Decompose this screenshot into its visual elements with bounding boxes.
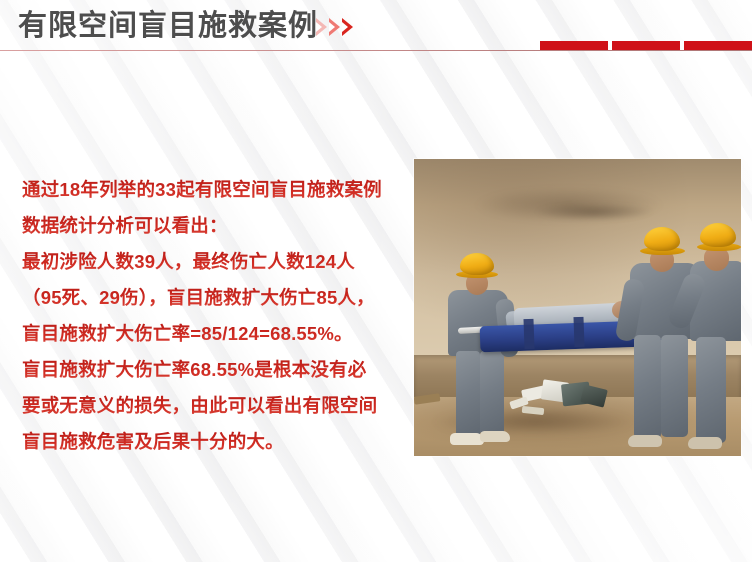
photo-worker-middle-shoe bbox=[628, 435, 662, 447]
photo-worker-middle-helmet bbox=[644, 227, 680, 251]
chevron-right-icon-2 bbox=[329, 18, 340, 36]
photo-worker-middle-leg bbox=[661, 335, 688, 437]
header-divider-line bbox=[0, 50, 752, 51]
photo-worker-middle-leg bbox=[634, 335, 661, 439]
body-text-line: 盲目施救扩大伤亡率68.55%是根本没有必 bbox=[22, 352, 412, 388]
chevron-right-icon-3 bbox=[342, 18, 353, 36]
photo-worker-right-leg bbox=[696, 337, 726, 443]
body-text-line: 通过18年列举的33起有限空间盲目施救案例 bbox=[22, 172, 412, 208]
double-chevron-right-icon bbox=[316, 18, 353, 36]
body-text-line: 最初涉险人数39人，最终伤亡人数124人 bbox=[22, 244, 412, 280]
photo-stretcher-strap bbox=[523, 319, 534, 349]
photo-worker-left-leg bbox=[480, 351, 504, 437]
body-text-line: 数据统计分析可以看出： bbox=[22, 208, 412, 244]
photo-worker-left-shoe bbox=[450, 433, 484, 445]
body-text-block: 通过18年列举的33起有限空间盲目施救案例 数据统计分析可以看出： 最初涉险人数… bbox=[22, 172, 412, 460]
body-text-line: 要或无意义的损失，由此可以看出有限空间 bbox=[22, 388, 412, 424]
photo-wall-stain bbox=[534, 203, 654, 221]
body-text-line: 盲目施救危害及后果十分的大。 bbox=[22, 424, 412, 460]
rescue-photo bbox=[414, 159, 741, 456]
photo-worker-right-helmet bbox=[700, 223, 736, 247]
photo-worker-left-shoe bbox=[480, 431, 510, 442]
page-title: 有限空间盲目施救案例 bbox=[18, 9, 318, 43]
photo-worker-left-leg bbox=[456, 351, 480, 439]
photo-stretcher-strap bbox=[573, 317, 584, 347]
slide-root: 有限空间盲目施救案例 通过18年列举的33起有限空间盲目施救案例 数据统计分析可… bbox=[0, 0, 752, 562]
body-text-line: （95死、29伤），盲目施救扩大伤亡85人， bbox=[22, 280, 412, 316]
slide-header: 有限空间盲目施救案例 bbox=[0, 0, 752, 52]
body-text-line: 盲目施救扩大伤亡率=85/124=68.55%。 bbox=[22, 316, 412, 352]
photo-worker-left-helmet bbox=[460, 253, 494, 275]
photo-worker-right-shoe bbox=[688, 437, 722, 449]
chevron-right-icon-1 bbox=[316, 18, 327, 36]
